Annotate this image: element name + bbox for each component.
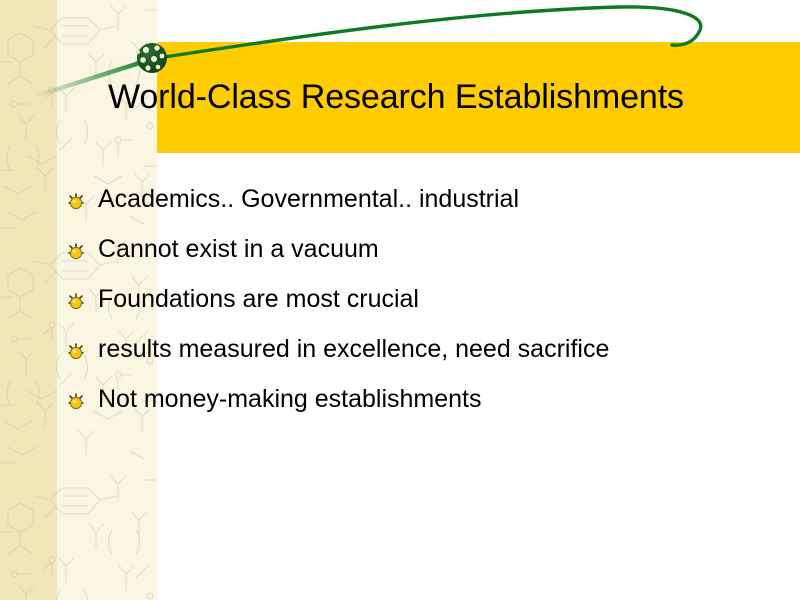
list-item: Academics.. Governmental.. industrial (66, 182, 786, 232)
list-item: Cannot exist in a vacuum (66, 232, 786, 282)
list-item-label: Cannot exist in a vacuum (98, 232, 379, 266)
bullet-list: Academics.. Governmental.. industrial Ca… (66, 182, 786, 432)
bee-bullet-icon (66, 391, 86, 411)
presentation-slide: World-Class Research Establishments (0, 0, 800, 600)
list-item-label: results measured in excellence, need sac… (98, 332, 609, 366)
bee-bullet-icon (66, 191, 86, 211)
bee-bullet-icon (66, 341, 86, 361)
list-item: Not money-making establishments (66, 382, 786, 432)
bee-bullet-icon (66, 291, 86, 311)
list-item-label: Academics.. Governmental.. industrial (98, 182, 519, 216)
list-item-label: Foundations are most crucial (98, 282, 419, 316)
page-title: World-Class Research Establishments (108, 42, 788, 153)
bee-bullet-icon (66, 241, 86, 261)
list-item: Foundations are most crucial (66, 282, 786, 332)
list-item: results measured in excellence, need sac… (66, 332, 786, 382)
list-item-label: Not money-making establishments (98, 382, 482, 416)
